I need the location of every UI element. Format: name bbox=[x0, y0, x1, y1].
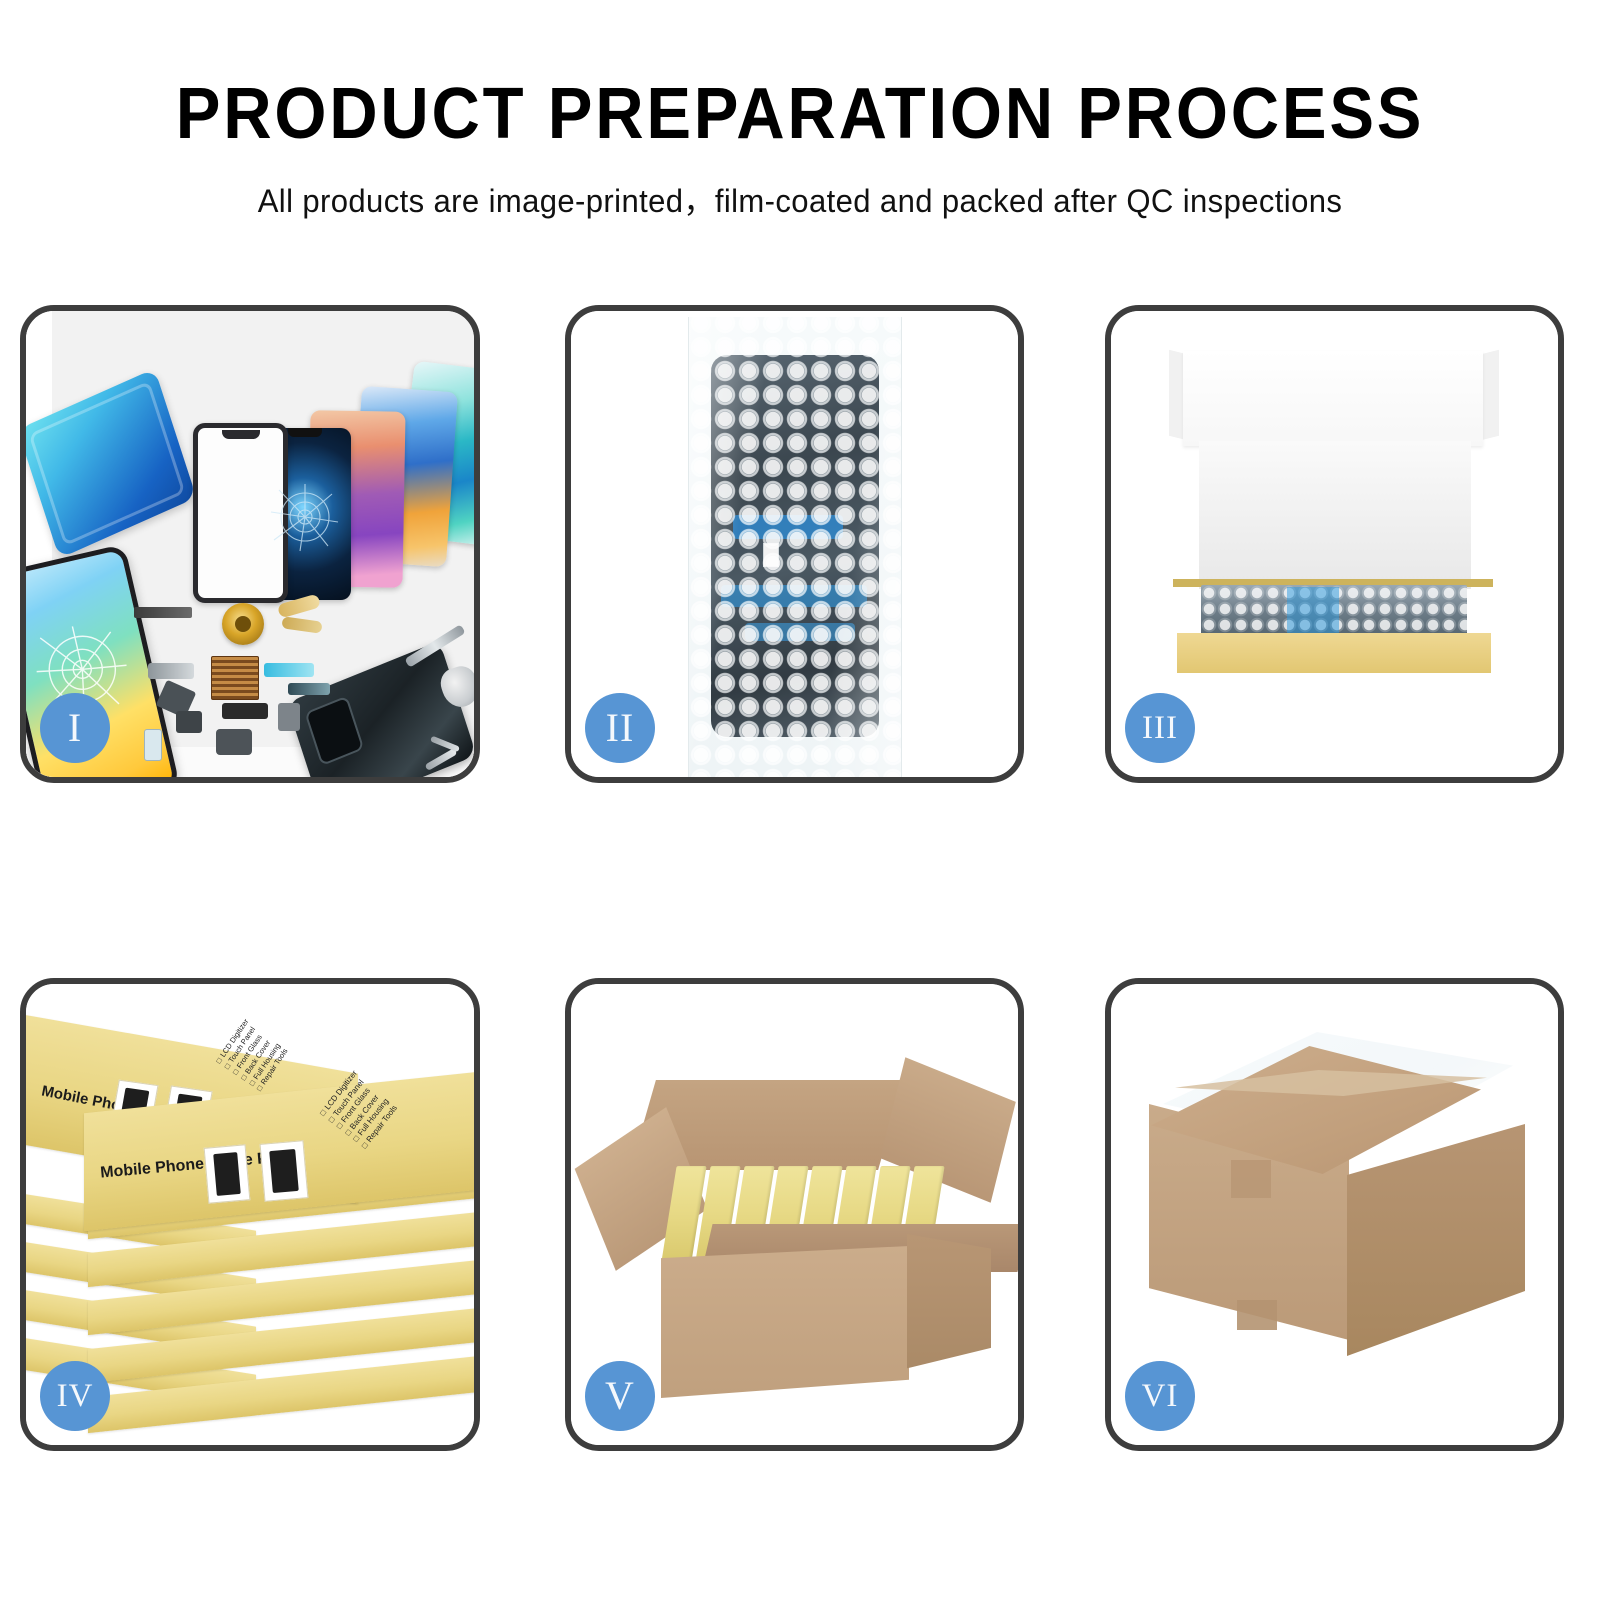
step-panel-6[interactable]: VI bbox=[1105, 978, 1564, 1451]
connector-strip-part bbox=[134, 607, 192, 618]
camera-module-part bbox=[148, 663, 194, 679]
step-numeral: V bbox=[605, 1376, 635, 1416]
page-header: PRODUCT PREPARATION PROCESS All products… bbox=[0, 0, 1600, 222]
carton-tape-tab bbox=[1237, 1300, 1277, 1330]
ribbon-cable-part bbox=[288, 683, 330, 695]
page-subtitle: All products are image-printed，film-coat… bbox=[24, 176, 1576, 222]
step-badge-6: VI bbox=[1125, 1361, 1195, 1431]
speaker-part bbox=[222, 703, 268, 719]
step-badge-4: IV bbox=[40, 1361, 110, 1431]
step-panel-3[interactable]: III bbox=[1105, 305, 1564, 783]
step-panel-2[interactable]: II bbox=[565, 305, 1024, 783]
step-panel-4[interactable]: Mobile Phone Spare Parts LCD Digitizer T… bbox=[20, 978, 480, 1451]
box-lid-open bbox=[1183, 351, 1483, 446]
step-badge-1: I bbox=[40, 693, 110, 763]
bracket-part bbox=[216, 729, 252, 755]
vibration-motor-part bbox=[278, 703, 300, 731]
page-title: PRODUCT PREPARATION PROCESS bbox=[56, 78, 1544, 150]
step-badge-2: II bbox=[585, 693, 655, 763]
step-badge-3: III bbox=[1125, 693, 1195, 763]
carton-tape-tab bbox=[1231, 1160, 1271, 1198]
small-module-part bbox=[176, 711, 202, 733]
retail-box-thumbnail bbox=[204, 1144, 251, 1203]
ic-chip-part bbox=[211, 656, 259, 700]
wireless-charging-coil-part bbox=[222, 603, 264, 645]
box-front-panel bbox=[1177, 633, 1491, 673]
step-panel-5[interactable]: V bbox=[565, 978, 1024, 1451]
retail-box-thumbnail bbox=[260, 1140, 309, 1202]
process-step-grid: I II bbox=[0, 0, 1600, 1600]
step-panel-1[interactable]: I bbox=[20, 305, 480, 783]
step-badge-5: V bbox=[585, 1361, 655, 1431]
step-numeral: VI bbox=[1142, 1380, 1179, 1413]
carton-body-front bbox=[661, 1246, 909, 1398]
plastic-sheen bbox=[689, 311, 901, 777]
ribbon-cable-part bbox=[264, 663, 314, 677]
wrapped-screen-in-box bbox=[1201, 585, 1467, 637]
step-numeral: III bbox=[1142, 712, 1178, 745]
step-numeral: IV bbox=[57, 1380, 94, 1413]
step-numeral: II bbox=[606, 708, 635, 748]
step-numeral: I bbox=[68, 708, 82, 748]
box-inner-back-wall bbox=[1199, 441, 1471, 589]
sim-tray-part bbox=[144, 729, 162, 761]
crack-pattern-icon bbox=[270, 482, 340, 552]
